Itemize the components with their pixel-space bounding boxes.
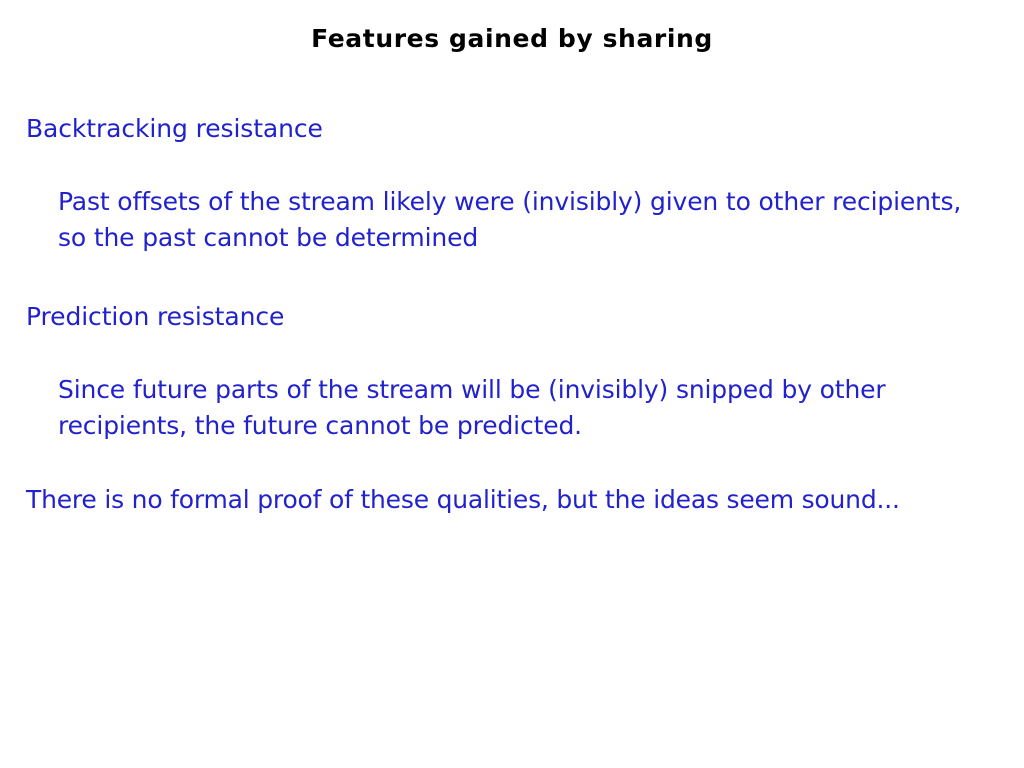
section-heading-prediction-resistance: Prediction resistance [26,300,1001,334]
section-heading-backtracking-resistance: Backtracking resistance [26,112,1001,146]
spacer [26,444,1001,482]
spacer [26,256,1001,300]
slide-canvas: Features gained by sharing Backtracking … [0,0,1024,768]
section-body-backtracking-resistance: Past offsets of the stream likely were (… [58,184,963,256]
slide-title: Features gained by sharing [0,24,1024,54]
slide-body: Backtracking resistance Past offsets of … [26,112,1001,518]
spacer [26,334,1001,372]
section-body-prediction-resistance: Since future parts of the stream will be… [58,372,963,444]
closing-statement: There is no formal proof of these qualit… [26,482,1001,518]
spacer [26,146,1001,184]
